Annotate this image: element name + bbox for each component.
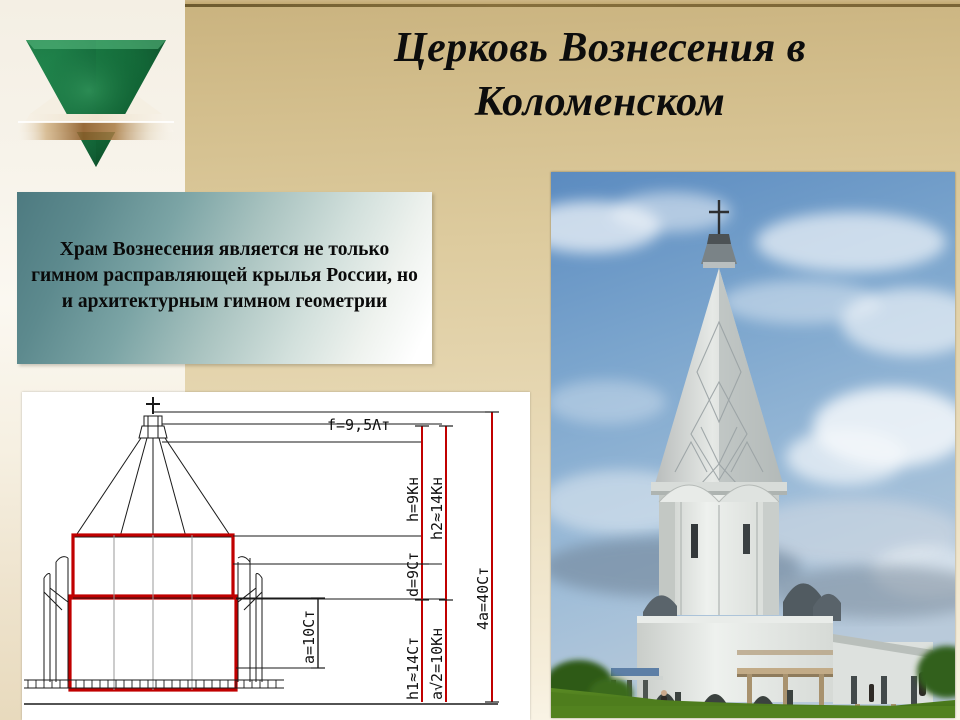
church-photo-image <box>551 172 955 718</box>
label-h2: h2≈14Kн <box>428 477 446 540</box>
label-d: d=9Cт <box>404 552 422 597</box>
proportions-diagram-image: f=9,5Λт h=9Kн h2≈14Kн d=9Cт a=10Cт h1≈14… <box>22 392 530 720</box>
label-a-diagonal: a√2=10Kн <box>428 628 446 700</box>
title-line-2: Коломенском <box>250 76 950 130</box>
caption-box: Храм Вознесения является не только гимно… <box>17 192 432 364</box>
label-a: a=10Cт <box>300 610 318 664</box>
label-f: f=9,5Λт <box>327 416 390 434</box>
slide-title: Церковь Вознесения в Коломенском <box>250 22 950 130</box>
green-triangle-icon <box>12 22 180 180</box>
proportions-diagram: f=9,5Λт h=9Kн h2≈14Kн d=9Cт a=10Cт h1≈14… <box>22 392 530 720</box>
label-total: 4a=40Cт <box>474 567 492 630</box>
logo <box>12 22 180 180</box>
slide-canvas: Церковь Вознесения в Коломенском Храм Во… <box>0 0 960 720</box>
church-photo <box>551 172 955 718</box>
top-rule <box>185 4 960 7</box>
title-line-1: Церковь Вознесения в <box>250 22 950 76</box>
label-h1: h1≈14Cт <box>404 637 422 700</box>
label-h: h=9Kн <box>404 477 422 522</box>
caption-text: Храм Вознесения является не только гимно… <box>31 237 418 314</box>
